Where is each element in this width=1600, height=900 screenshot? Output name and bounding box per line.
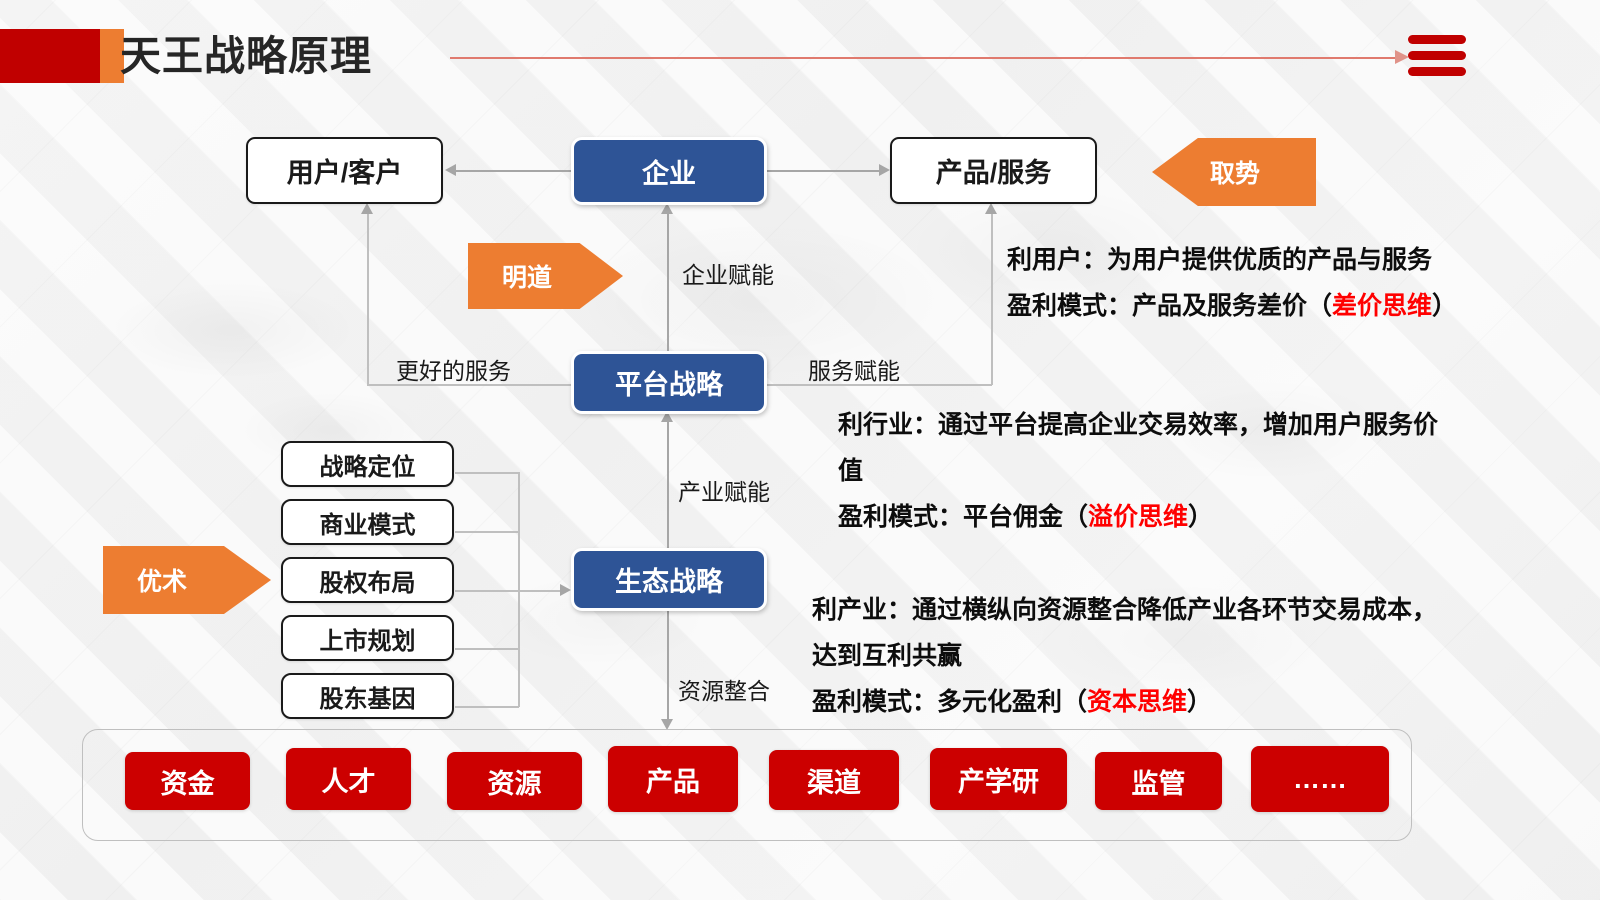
edge-enterprise-to-product (766, 170, 879, 172)
menu-bar-3 (1408, 67, 1466, 76)
description-2-line2: 盈利模式：多元化盈利（资本思维） (812, 679, 1492, 725)
description-1-highlight: 溢价思维 (1088, 503, 1188, 531)
bracket-branch-2 (455, 531, 519, 533)
page-title: 天王战略原理 (120, 24, 372, 88)
edge-label-enterprise-empower: 企业赋能 (682, 256, 774, 290)
description-block-sector: 利产业：通过横纵向资源整合降低产业各环节交易成本， 达到互利共赢 盈利模式：多元… (812, 587, 1492, 725)
resource-box-2[interactable]: 资源 (447, 752, 582, 810)
bracket-branch-4 (455, 648, 519, 650)
arrow-bracket-to-ecology (560, 584, 571, 596)
description-0-line2-pre: 盈利模式：产品及服务差价（ (1007, 292, 1332, 320)
edge-label-service-empower: 服务赋能 (808, 352, 900, 386)
edge-platform-to-enterprise (667, 212, 669, 353)
resource-box-4[interactable]: 渠道 (769, 750, 899, 810)
edge-ecology-to-platform (667, 420, 669, 551)
description-2-line2-pre: 盈利模式：多元化盈利（ (812, 688, 1087, 716)
description-block-industry: 利行业：通过平台提高企业交易效率，增加用户服务价 值 盈利模式：平台佣金（溢价思… (838, 402, 1488, 540)
strategy-item-0[interactable]: 战略定位 (281, 441, 454, 487)
menu-bar-1 (1408, 35, 1466, 44)
edge-label-industry-empower: 产业赋能 (678, 473, 770, 507)
description-0-line2-post: ） (1432, 292, 1457, 320)
header-red-block (0, 29, 100, 83)
description-2-line2-post: ） (1187, 688, 1212, 716)
description-0-highlight: 差价思维 (1332, 292, 1432, 320)
description-0-line2: 盈利模式：产品及服务差价（差价思维） (1007, 283, 1487, 329)
chevron-youshu[interactable]: 优术 (103, 546, 271, 614)
resource-box-6[interactable]: 监管 (1095, 752, 1222, 810)
resource-box-0[interactable]: 资金 (125, 752, 250, 810)
description-2-line1b: 达到互利共赢 (812, 633, 1492, 679)
hamburger-menu-icon[interactable] (1408, 35, 1466, 83)
node-platform-strategy[interactable]: 平台战略 (571, 351, 767, 414)
edge-ecology-to-resources (667, 608, 669, 721)
description-1-line1: 利行业：通过平台提高企业交易效率，增加用户服务价 (838, 402, 1488, 448)
resource-box-3[interactable]: 产品 (608, 746, 738, 812)
strategy-item-1[interactable]: 商业模式 (281, 499, 454, 545)
bracket-branch-1 (455, 472, 519, 474)
node-product[interactable]: 产品/服务 (890, 137, 1097, 204)
description-1-line1b: 值 (838, 448, 1488, 494)
bracket-branch-5 (455, 706, 519, 708)
resource-box-5[interactable]: 产学研 (930, 748, 1067, 810)
description-block-user: 利用户：为用户提供优质的产品与服务 盈利模式：产品及服务差价（差价思维） (1007, 237, 1487, 329)
description-2-line1: 利产业：通过横纵向资源整合降低产业各环节交易成本， (812, 587, 1492, 633)
chevron-mingdao[interactable]: 明道 (468, 243, 623, 309)
menu-bar-2 (1408, 51, 1466, 60)
arrow-enterprise-to-user (445, 164, 456, 176)
arrow-platform-to-product (985, 203, 997, 214)
description-1-line2-pre: 盈利模式：平台佣金（ (838, 503, 1088, 531)
node-ecology-strategy[interactable]: 生态战略 (571, 548, 767, 611)
slide-header: 天王战略原理 (0, 0, 1600, 118)
arrow-platform-to-user (361, 203, 373, 214)
edge-enterprise-to-user (456, 170, 572, 172)
arrow-enterprise-to-product (879, 164, 890, 176)
header-rule (450, 57, 1405, 59)
node-enterprise[interactable]: 企业 (571, 137, 767, 205)
bracket-to-ecology (518, 590, 562, 592)
edge-label-resource-integration: 资源整合 (678, 672, 770, 706)
resource-box-7[interactable]: …… (1251, 746, 1389, 812)
bracket-branch-3 (455, 590, 519, 592)
strategy-item-4[interactable]: 股东基因 (281, 673, 454, 719)
node-user[interactable]: 用户/客户 (246, 137, 443, 204)
description-1-line2: 盈利模式：平台佣金（溢价思维） (838, 494, 1488, 540)
edge-platform-to-user-vertical (367, 212, 369, 385)
edge-label-better-service: 更好的服务 (396, 352, 511, 386)
header-rule-arrowhead (1395, 50, 1409, 64)
description-1-line2-post: ） (1188, 503, 1213, 531)
slide-canvas: 天王战略原理 用户/客户 企业 产品/服务 平台战略 生态战略 (0, 0, 1600, 900)
strategy-item-2[interactable]: 股权布局 (281, 557, 454, 603)
strategy-item-3[interactable]: 上市规划 (281, 615, 454, 661)
edge-platform-to-product-vertical (991, 212, 993, 385)
description-0-line1: 利用户：为用户提供优质的产品与服务 (1007, 237, 1487, 283)
resource-strip: 资金 人才 资源 产品 渠道 产学研 监管 …… (82, 729, 1412, 841)
resource-box-1[interactable]: 人才 (286, 748, 411, 810)
description-2-highlight: 资本思维 (1087, 688, 1187, 716)
chevron-qushi[interactable]: 取势 (1152, 138, 1316, 206)
